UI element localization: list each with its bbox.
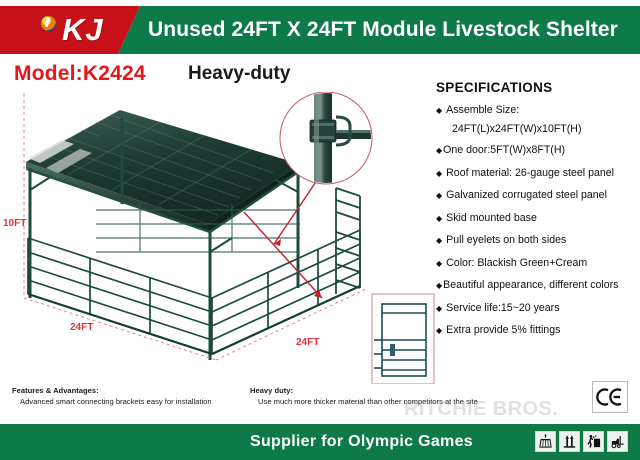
gate-panel-detail-icon (372, 294, 434, 384)
bullet-diamond-icon: ◆ (436, 324, 442, 337)
forklift-icon (607, 431, 628, 452)
product-title: Unused 24FT X 24FT Module Livestock Shel… (148, 6, 618, 54)
bullet-diamond-icon: ◆ (436, 279, 442, 292)
roof-canopy (26, 110, 300, 232)
bullet-diamond-icon: ◆ (436, 234, 442, 247)
ce-logo-icon (596, 387, 624, 407)
bullet-diamond-icon: ◆ (436, 257, 442, 270)
this-way-up-icon (559, 431, 580, 452)
heavy-duty-note-title: Heavy duty: (250, 386, 293, 395)
shipping-icon-row (535, 431, 628, 452)
spec-item-label: Color: Blackish Green+Cream (446, 257, 587, 269)
dimension-height-label: 10FT (3, 218, 26, 229)
spec-item-galvanized-panel: ◆ Galvanized corrugated steel panel (436, 189, 636, 202)
product-illustration (0, 92, 436, 384)
specifications-title: SPECIFICATIONS (436, 80, 636, 95)
bullet-diamond-icon: ◆ (436, 104, 442, 117)
corral-panel-back-left (28, 238, 212, 354)
spec-item-service-life: ◆ Service life:15~20 years (436, 302, 636, 315)
spec-item-label: Skid mounted base (446, 212, 537, 224)
features-note-title: Features & Advantages: (12, 386, 99, 395)
footer-banner: Supplier for Olympic Games (0, 424, 640, 460)
bullet-diamond-icon: ◆ (436, 212, 442, 225)
footer-title: Supplier for Olympic Games (250, 424, 473, 460)
spec-item-color: ◆ Color: Blackish Green+Cream (436, 257, 636, 270)
spec-item-label: One door:5FT(W)x8FT(H) (443, 144, 565, 156)
dimension-depth-label: 24FT (70, 322, 93, 333)
spec-item-skid-base: ◆ Skid mounted base (436, 212, 636, 225)
specifications-panel: SPECIFICATIONS ◆ Assemble Size: 24FT(L)x… (436, 80, 636, 347)
header-banner: KJ Unused 24FT X 24FT Module Livestock S… (0, 6, 640, 54)
spec-item-label: Extra provide 5% fittings (446, 324, 560, 336)
features-note-body: Advanced smart connecting brackets easy … (20, 396, 242, 407)
pipe-connector-detail-icon (280, 92, 388, 188)
product-sheet-page: KJ Unused 24FT X 24FT Module Livestock S… (0, 0, 640, 460)
brand-logo-text: KJ (62, 10, 104, 50)
heavy-duty-note-body: Use much more thicker material than othe… (258, 396, 550, 407)
spec-item-assemble-size: ◆ Assemble Size: (436, 104, 636, 117)
model-tagline: Heavy-duty (188, 63, 290, 85)
bullet-diamond-icon: ◆ (436, 189, 442, 202)
spec-item-label: Service life:15~20 years (446, 302, 559, 314)
spec-item-label: Assemble Size: (446, 104, 519, 116)
spec-item-label: Roof material: 26-gauge steel panel (446, 167, 614, 179)
spec-item-label: Galvanized corrugated steel panel (446, 189, 607, 201)
ce-mark (592, 381, 628, 413)
spec-item-one-door: ◆ One door:5FT(W)x8FT(H) (436, 144, 636, 157)
features-note: Features & Advantages: Advanced smart co… (12, 385, 242, 407)
spec-item-extra-fittings: ◆ Extra provide 5% fittings (436, 324, 636, 337)
bullet-diamond-icon: ◆ (436, 144, 442, 157)
spec-item-appearance: ◆ Beautiful appearance, different colors (436, 279, 636, 292)
company-emblem-icon (40, 15, 57, 32)
spec-item-label: Pull eyelets on both sides (446, 234, 566, 246)
dimension-width-label: 24FT (296, 337, 319, 348)
heavy-duty-note: Heavy duty: Use much more thicker materi… (250, 385, 550, 407)
model-number: Model:K2424 (14, 62, 146, 86)
no-littering-icon (583, 431, 604, 452)
bullet-diamond-icon: ◆ (436, 302, 442, 315)
spec-item-label: Beautiful appearance, different colors (443, 279, 618, 291)
shipping-container-icon (535, 431, 556, 452)
spec-item-roof-material: ◆ Roof material: 26-gauge steel panel (436, 167, 636, 180)
shelter-drawing (0, 92, 436, 384)
spec-item-pull-eyelets: ◆ Pull eyelets on both sides (436, 234, 636, 247)
bullet-diamond-icon: ◆ (436, 167, 442, 180)
spec-assemble-size-value: 24FT(L)x24FT(W)x10FT(H) (452, 123, 636, 135)
